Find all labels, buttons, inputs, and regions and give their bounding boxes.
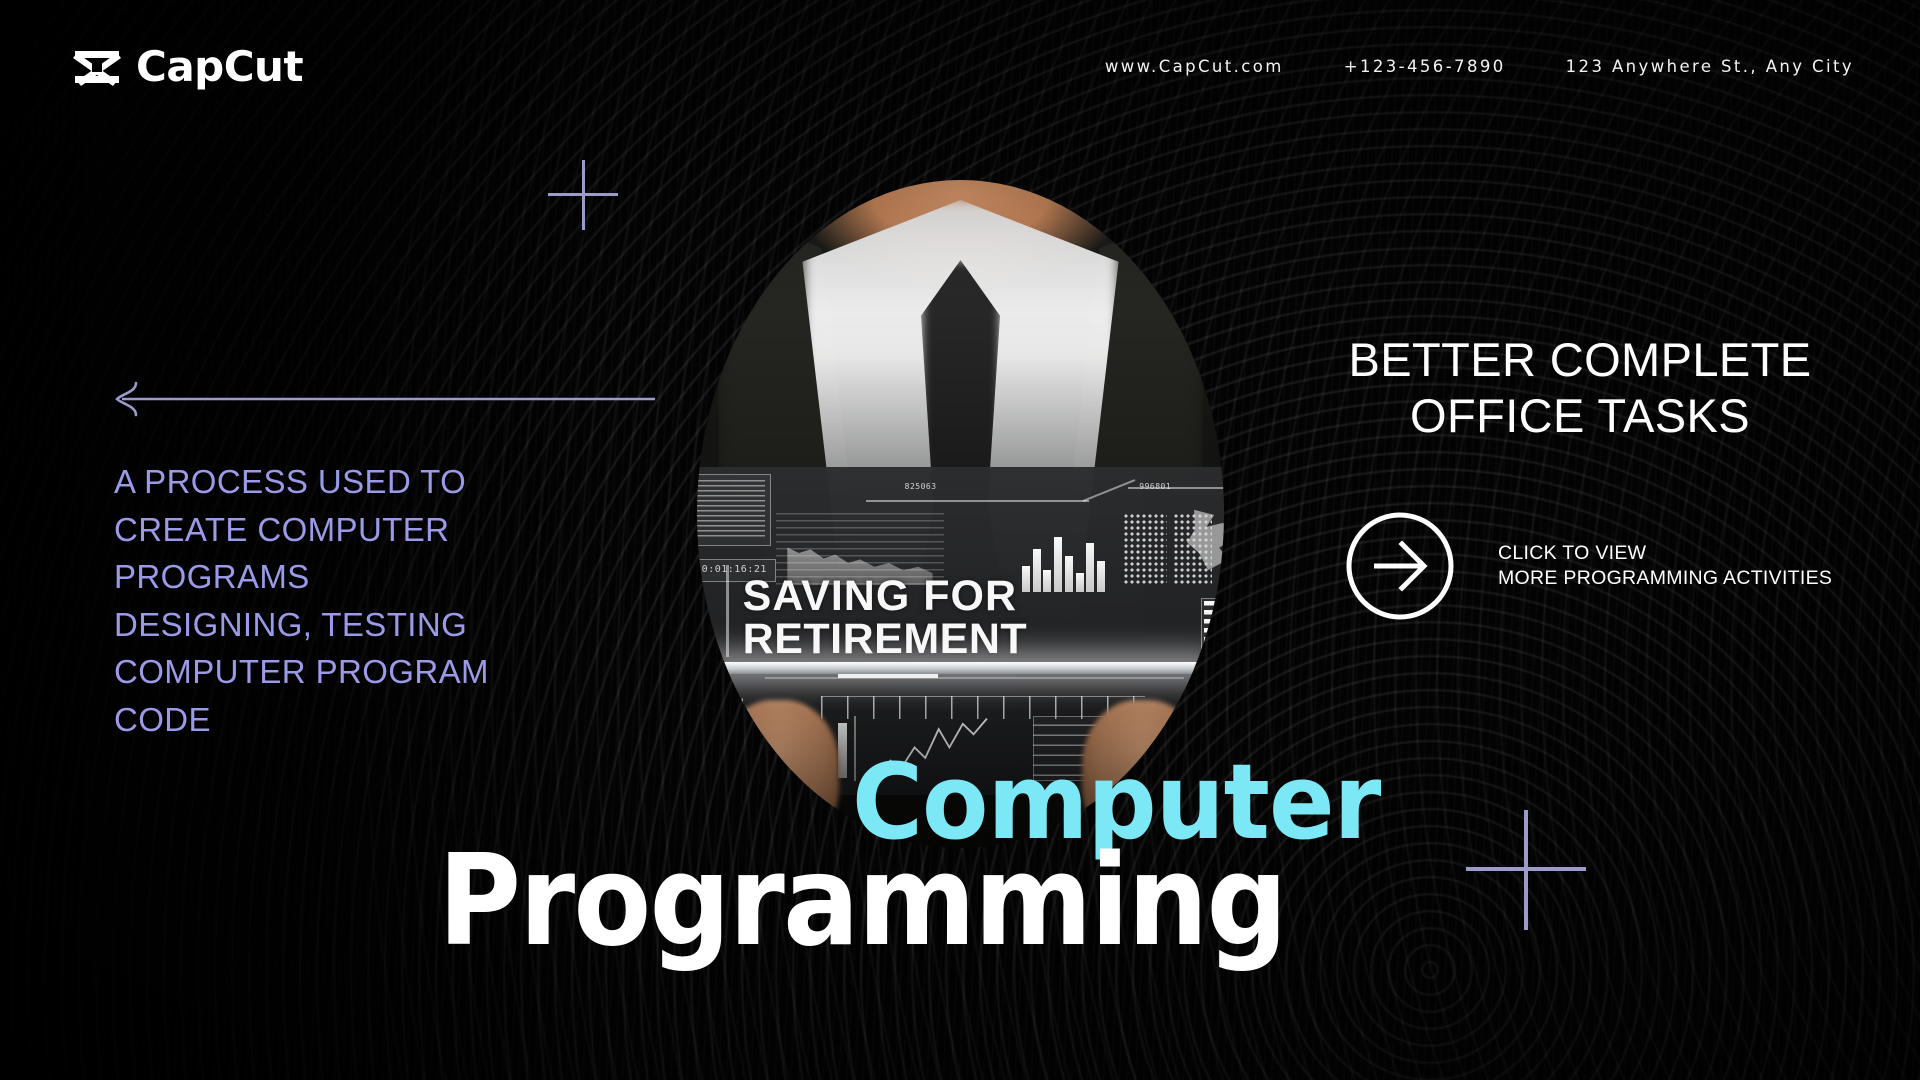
title-main-word: Programming [438, 838, 1286, 964]
capcut-logo-icon [72, 45, 122, 89]
right-heading-line-2: OFFICE TASKS [1300, 388, 1860, 444]
header-contact-info: www.CapCut.com +123-456-7890 123 Anywher… [1105, 57, 1854, 76]
cta-line-2: MORE PROGRAMMING ACTIVITIES [1498, 566, 1832, 591]
description-line-6: CODE [114, 696, 584, 744]
plus-decoration-icon-top [548, 160, 618, 230]
description-paragraph: A PROCESS USED TO CREATE COMPUTER PROGRA… [114, 458, 584, 743]
description-line-3: PROGRAMS [114, 553, 584, 601]
right-heading: BETTER COMPLETE OFFICE TASKS [1300, 332, 1860, 445]
poster-canvas: CapCut www.CapCut.com +123-456-7890 123 … [0, 0, 1920, 1080]
right-heading-line-1: BETTER COMPLETE [1300, 332, 1860, 388]
left-arrow-line-icon [110, 380, 655, 418]
contact-website[interactable]: www.CapCut.com [1105, 57, 1284, 76]
arrow-right-circle-icon[interactable] [1344, 510, 1456, 622]
description-line-1: A PROCESS USED TO [114, 458, 584, 506]
description-line-5: COMPUTER PROGRAM [114, 648, 584, 696]
capcut-logo-text: CapCut [136, 46, 303, 88]
contact-phone[interactable]: +123-456-7890 [1344, 57, 1506, 76]
cta-line-1: CLICK TO VIEW [1498, 541, 1832, 566]
description-line-4: DESIGNING, TESTING [114, 601, 584, 649]
capcut-brand-logo[interactable]: CapCut [72, 45, 303, 89]
cta-group[interactable]: CLICK TO VIEW MORE PROGRAMMING ACTIVITIE… [1344, 510, 1832, 622]
cta-text-block: CLICK TO VIEW MORE PROGRAMMING ACTIVITIE… [1498, 541, 1832, 591]
description-line-2: CREATE COMPUTER [114, 506, 584, 554]
page-header: CapCut www.CapCut.com +123-456-7890 123 … [0, 0, 1920, 120]
plus-decoration-icon-bottom [1466, 810, 1586, 930]
contact-address: 123 Anywhere St., Any City [1566, 57, 1854, 76]
